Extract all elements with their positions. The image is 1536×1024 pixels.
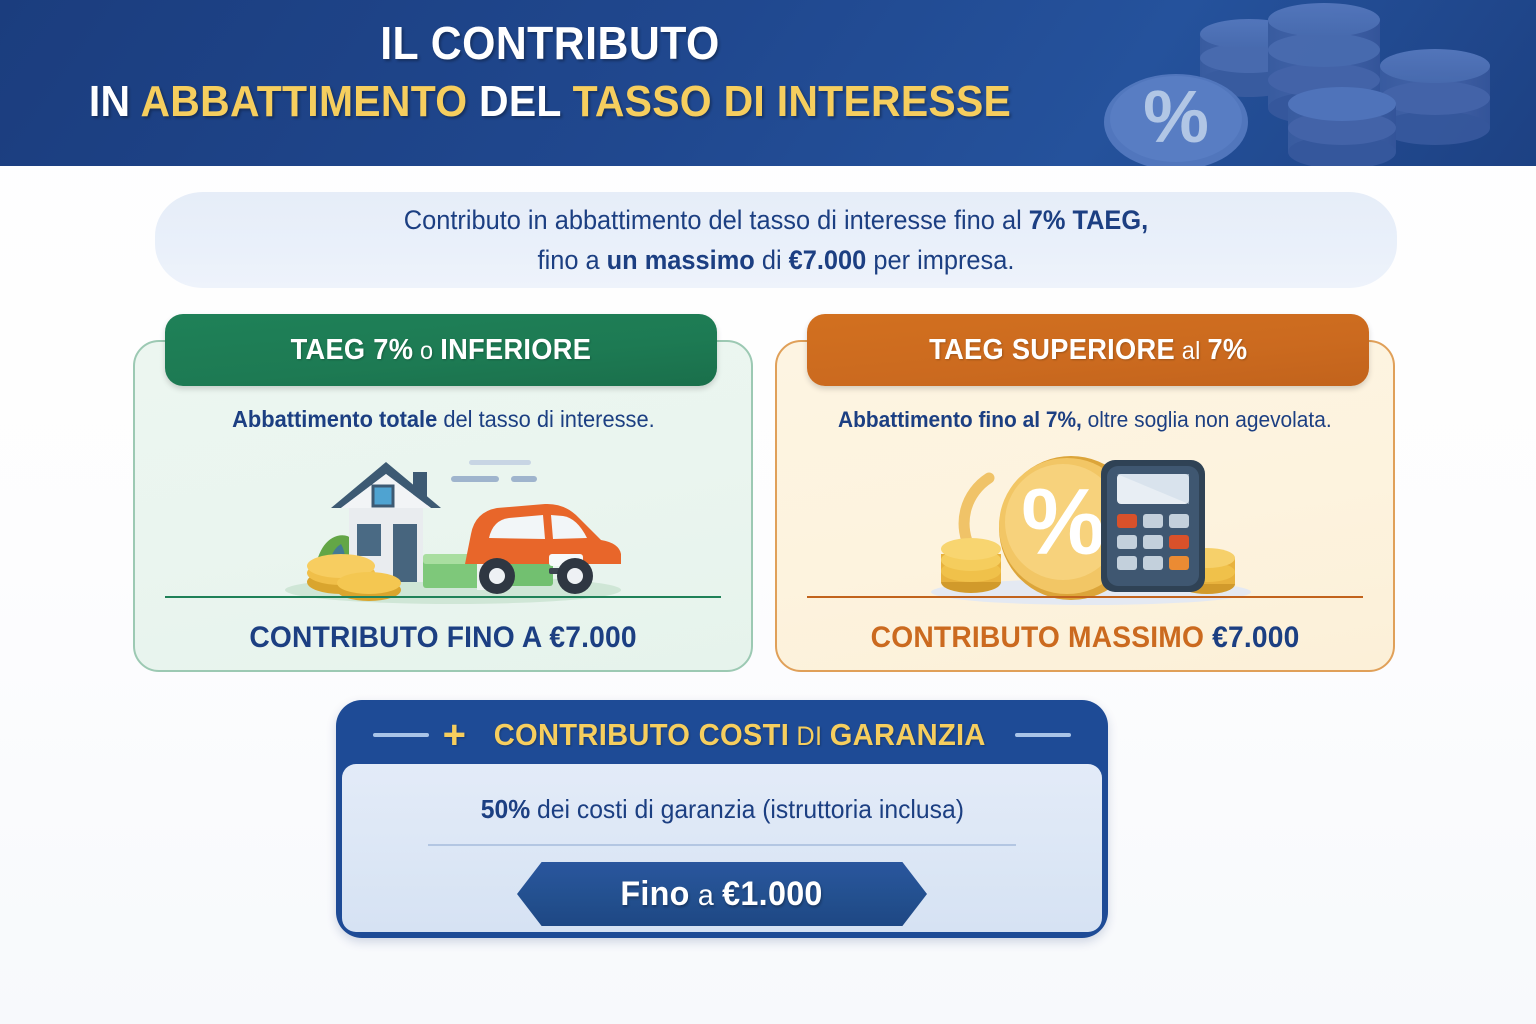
card-garanzia-header: + CONTRIBUTO COSTI DI GARANZIA xyxy=(342,706,1102,764)
card-taeg-high-footer-label: CONTRIBUTO MASSIMO xyxy=(871,621,1212,654)
card-taeg-high-footer-inner: CONTRIBUTO MASSIMO €7.000 xyxy=(871,621,1300,654)
percent-coin-calculator-icon: % xyxy=(777,442,1393,612)
subtitle-banner: Contributo in abbattimento del tasso di … xyxy=(155,192,1397,288)
card-garanzia-header-text: CONTRIBUTO COSTI DI GARANZIA xyxy=(494,717,986,753)
infographic-root: % IL CONTRIBUTO IN ABBATTIMENTO DEL TASS… xyxy=(0,0,1536,1024)
card-garanzia-divider xyxy=(428,844,1016,846)
subtitle-line1-plain: Contributo in abbattimento del tasso di … xyxy=(404,205,1029,235)
tab-strong-2: INFERIORE xyxy=(440,334,591,366)
tab-strong-4: 7% xyxy=(1207,334,1247,366)
card-taeg-high-header-text: TAEG SUPERIORE al 7% xyxy=(929,334,1247,367)
card-taeg-high-divider xyxy=(807,596,1363,598)
title-part-in: IN xyxy=(89,77,141,126)
card-taeg-high-footer: CONTRIBUTO MASSIMO €7.000 xyxy=(791,621,1379,654)
title-part-tasso-interesse: TASSO DI INTERESSE xyxy=(573,77,1012,126)
title-part-abbattimento: ABBATTIMENTO xyxy=(140,77,467,126)
card-taeg-low-divider xyxy=(165,596,721,598)
card-taeg-low-footer: CONTRIBUTO FINO A €7.000 xyxy=(149,621,737,654)
card-taeg-low-header-text: TAEG 7% o INFERIORE xyxy=(291,334,592,367)
tab-strong-1: TAEG 7% xyxy=(291,334,414,366)
header-title-block: IL CONTRIBUTO IN ABBATTIMENTO DEL TASSO … xyxy=(0,16,1100,129)
card-taeg-low-description-inner: Abbattimento totale del tasso di interes… xyxy=(232,404,655,435)
tab-strong-3: TAEG SUPERIORE xyxy=(929,334,1175,366)
house-car-coins-cash-icon xyxy=(135,442,751,612)
bh-thin: DI xyxy=(789,721,830,751)
subtitle-line2-amount: €7.000 xyxy=(789,245,867,275)
dash-left-icon xyxy=(373,733,429,737)
tab-thin-1: o xyxy=(413,337,440,365)
ribbon-strong: Fino xyxy=(621,875,690,913)
desc-rest-high: oltre soglia non agevolata. xyxy=(1082,407,1332,432)
plus-icon: + xyxy=(443,715,466,755)
desc-strong-low: Abbattimento totale xyxy=(232,406,437,432)
card-taeg-high-description-inner: Abbattimento fino al 7%, oltre soglia no… xyxy=(838,405,1332,435)
card-taeg-low-footer-text: CONTRIBUTO FINO A €7.000 xyxy=(249,621,636,654)
coin-stacks-percent-icon: % xyxy=(1082,0,1522,166)
page-title-line2: IN ABBATTIMENTO DEL TASSO DI INTERESSE xyxy=(39,76,1062,129)
card-taeg-low-header: TAEG 7% o INFERIORE xyxy=(165,314,717,386)
subtitle-line2-tail: per impresa. xyxy=(866,245,1014,275)
bh-strong-2: GARANZIA xyxy=(830,717,986,752)
title-part-del: DEL xyxy=(467,77,572,126)
panel-strong: 50% xyxy=(480,794,529,824)
card-taeg-low-description: Abbattimento totale del tasso di interes… xyxy=(157,404,729,435)
subtitle-line2-strong1: un massimo xyxy=(607,245,755,275)
desc-rest-low: del tasso di interesse. xyxy=(437,406,654,432)
card-taeg-high-footer-amount: €7.000 xyxy=(1212,621,1299,654)
card-garanzia-detail-inner: 50% dei costi di garanzia (istruttoria i… xyxy=(480,794,963,825)
page-title-line1: IL CONTRIBUTO xyxy=(39,16,1062,70)
card-garanzia-detail: 50% dei costi di garanzia (istruttoria i… xyxy=(342,794,1102,825)
card-garanzia-ribbon: Fino a €1.000 xyxy=(517,862,927,926)
card-taeg-low: TAEG 7% o INFERIORE Abbattimento totale … xyxy=(133,340,753,672)
ribbon-amount: €1.000 xyxy=(723,875,824,913)
bh-strong-1: CONTRIBUTO COSTI xyxy=(494,717,789,752)
subtitle-line2-di: di xyxy=(755,245,789,275)
card-garanzia-panel: 50% dei costi di garanzia (istruttoria i… xyxy=(342,764,1102,932)
panel-rest: dei costi di garanzia (istruttoria inclu… xyxy=(530,794,964,824)
subtitle-text: Contributo in abbattimento del tasso di … xyxy=(404,200,1148,281)
header-banner: % IL CONTRIBUTO IN ABBATTIMENTO DEL TASS… xyxy=(0,0,1536,166)
card-taeg-high-description: Abbattimento fino al 7%, oltre soglia no… xyxy=(799,404,1371,435)
desc-strong-high: Abbattimento fino al 7%, xyxy=(838,407,1082,432)
tab-thin-2: al xyxy=(1175,337,1207,365)
subtitle-line2-plain: fino a xyxy=(538,245,607,275)
dash-right-icon xyxy=(1015,733,1071,737)
svg-text:%: % xyxy=(1143,75,1209,158)
svg-text:%: % xyxy=(1021,469,1105,574)
card-taeg-high-header: TAEG SUPERIORE al 7% xyxy=(807,314,1369,386)
card-garanzia-ribbon-text: Fino a €1.000 xyxy=(621,875,823,914)
ribbon-thin: a xyxy=(690,879,723,912)
card-garanzia: + CONTRIBUTO COSTI DI GARANZIA 50% dei c… xyxy=(336,700,1108,938)
card-taeg-high: TAEG SUPERIORE al 7% Abbattimento fino a… xyxy=(775,340,1395,672)
subtitle-line1-strong: 7% TAEG, xyxy=(1029,205,1148,235)
